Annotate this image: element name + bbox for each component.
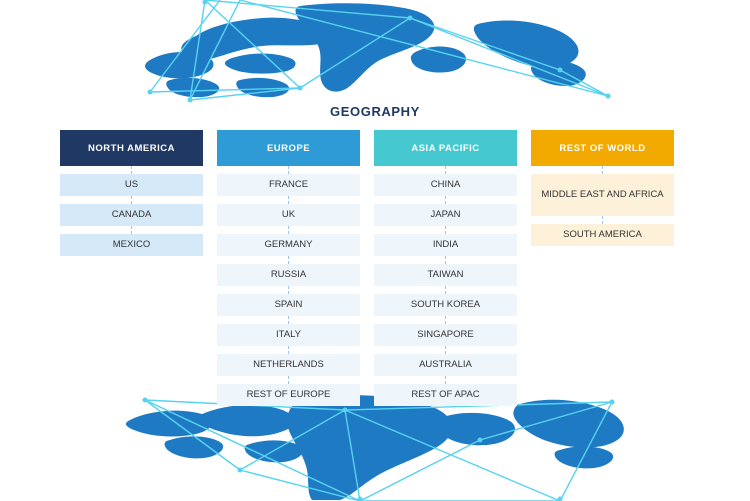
list-item[interactable]: FRANCE bbox=[217, 174, 360, 196]
connector bbox=[288, 256, 289, 264]
connector bbox=[288, 346, 289, 354]
column-header-rest-of-world: REST OF WORLD bbox=[531, 130, 674, 166]
connector bbox=[288, 226, 289, 234]
list-item[interactable]: CHINA bbox=[374, 174, 517, 196]
list-item[interactable]: GERMANY bbox=[217, 234, 360, 256]
connector bbox=[445, 376, 446, 384]
column-header-europe: EUROPE bbox=[217, 130, 360, 166]
column-asia-pacific: ASIA PACIFIC CHINA JAPAN INDIA TAIWAN SO… bbox=[374, 130, 517, 406]
connector bbox=[288, 376, 289, 384]
list-item[interactable]: SINGAPORE bbox=[374, 324, 517, 346]
list-item[interactable]: SOUTH KOREA bbox=[374, 294, 517, 316]
list-item[interactable]: INDIA bbox=[374, 234, 517, 256]
connector bbox=[288, 316, 289, 324]
list-item[interactable]: NETHERLANDS bbox=[217, 354, 360, 376]
connector bbox=[445, 286, 446, 294]
list-item[interactable]: REST OF APAC bbox=[374, 384, 517, 406]
list-item[interactable]: RUSSIA bbox=[217, 264, 360, 286]
list-item[interactable]: US bbox=[60, 174, 203, 196]
column-rest-of-world: REST OF WORLD MIDDLE EAST AND AFRICA SOU… bbox=[531, 130, 674, 406]
connector bbox=[131, 226, 132, 234]
connector bbox=[602, 216, 603, 224]
connector bbox=[288, 166, 289, 174]
column-europe: EUROPE FRANCE UK GERMANY RUSSIA SPAIN IT… bbox=[217, 130, 360, 406]
connector bbox=[445, 196, 446, 204]
list-item[interactable]: UK bbox=[217, 204, 360, 226]
list-item[interactable]: SPAIN bbox=[217, 294, 360, 316]
connector bbox=[131, 196, 132, 204]
connector bbox=[288, 286, 289, 294]
list-item[interactable]: JAPAN bbox=[374, 204, 517, 226]
connector bbox=[131, 166, 132, 174]
connector bbox=[445, 346, 446, 354]
connector bbox=[602, 166, 603, 174]
column-header-north-america: NORTH AMERICA bbox=[60, 130, 203, 166]
column-north-america: NORTH AMERICA US CANADA MEXICO bbox=[60, 130, 203, 406]
list-item[interactable]: CANADA bbox=[60, 204, 203, 226]
list-item[interactable]: MIDDLE EAST AND AFRICA bbox=[531, 174, 674, 216]
list-item[interactable]: ITALY bbox=[217, 324, 360, 346]
list-item[interactable]: MEXICO bbox=[60, 234, 203, 256]
connector bbox=[445, 166, 446, 174]
connector bbox=[445, 316, 446, 324]
connector bbox=[288, 196, 289, 204]
diagram-title: GEOGRAPHY bbox=[0, 104, 750, 119]
list-item[interactable]: REST OF EUROPE bbox=[217, 384, 360, 406]
column-header-asia-pacific: ASIA PACIFIC bbox=[374, 130, 517, 166]
list-item[interactable]: TAIWAN bbox=[374, 264, 517, 286]
connector bbox=[445, 256, 446, 264]
list-item[interactable]: AUSTRALIA bbox=[374, 354, 517, 376]
connector bbox=[445, 226, 446, 234]
list-item[interactable]: SOUTH AMERICA bbox=[531, 224, 674, 246]
geography-columns: NORTH AMERICA US CANADA MEXICO EUROPE FR… bbox=[60, 130, 690, 406]
